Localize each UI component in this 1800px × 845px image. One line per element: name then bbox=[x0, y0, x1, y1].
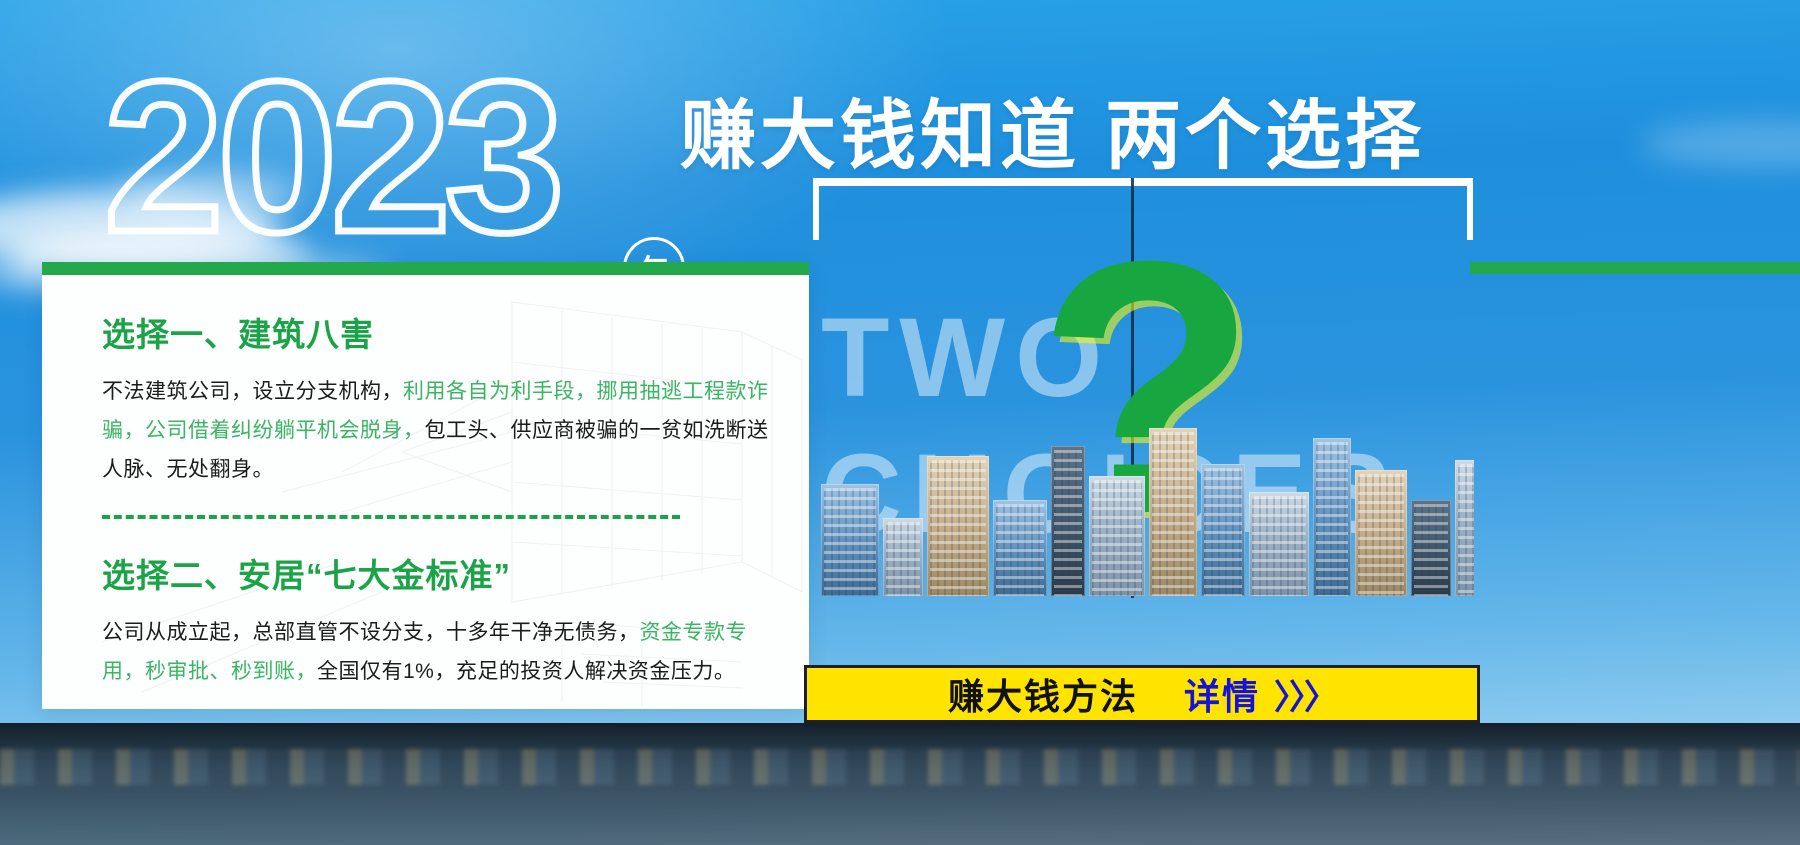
paragraph-segment: 不法建筑公司，设立分支机构， bbox=[102, 380, 403, 403]
footer-blur-band bbox=[0, 749, 1800, 785]
cityscape-photo bbox=[809, 396, 1474, 596]
accent-stripe bbox=[1470, 262, 1800, 274]
cta-button[interactable]: 赚大钱方法 详情 〉〉〉 bbox=[804, 665, 1480, 723]
section-title-1: 选择一、建筑八害 bbox=[102, 308, 769, 356]
section-title-2: 选择二、安居“七大金标准” bbox=[102, 549, 769, 597]
building-shape bbox=[1355, 470, 1407, 596]
card-body: 选择一、建筑八害 不法建筑公司，设立分支机构，利用各自为利手段，挪用抽逃工程款诈… bbox=[42, 262, 809, 691]
building-shape bbox=[927, 456, 989, 596]
content-card: 选择一、建筑八害 不法建筑公司，设立分支机构，利用各自为利手段，挪用抽逃工程款诈… bbox=[42, 262, 809, 709]
cloud-shape bbox=[1640, 120, 1800, 168]
photo-panel: TWO CHOICES ? bbox=[809, 190, 1474, 650]
building-shape bbox=[883, 518, 923, 596]
section-divider bbox=[102, 515, 680, 519]
building-shape bbox=[1149, 428, 1197, 596]
year-number: 2023 bbox=[104, 52, 724, 262]
cta-link-label: 详情 bbox=[1184, 668, 1260, 720]
section-paragraph-2: 公司从成立起，总部直管不设分支，十多年干净无债务，资金专款专用，秒审批、秒到账，… bbox=[102, 613, 769, 691]
footer-reflection-strip bbox=[0, 723, 1800, 845]
building-shape bbox=[1201, 464, 1245, 596]
cta-main-label: 赚大钱方法 bbox=[948, 668, 1138, 720]
building-shape bbox=[1089, 476, 1145, 596]
headline-underline bbox=[813, 178, 1473, 186]
building-shape bbox=[1411, 500, 1451, 596]
building-shape bbox=[821, 484, 879, 596]
section-paragraph-1: 不法建筑公司，设立分支机构，利用各自为利手段，挪用抽逃工程款诈骗，公司借着纠纷躺… bbox=[102, 372, 769, 489]
building-shape bbox=[1051, 446, 1085, 596]
building-shape bbox=[1313, 438, 1351, 596]
paragraph-segment: 公司从成立起，总部直管不设分支，十多年干净无债务， bbox=[102, 621, 640, 644]
cta-details-link[interactable]: 详情 〉〉〉 bbox=[1184, 668, 1336, 720]
chevron-right-icon: 〉〉〉 bbox=[1274, 670, 1336, 719]
page-title: 赚大钱知道 两个选择 bbox=[680, 74, 1425, 184]
year-graphic: 2023 年 bbox=[104, 52, 724, 262]
paragraph-segment: 全国仅有1%，充足的投资人解决资金压力。 bbox=[317, 660, 735, 683]
building-shape bbox=[1455, 460, 1474, 596]
building-shape bbox=[1249, 492, 1309, 596]
promo-banner: 2023 年 赚大钱知道 两个选择 TWO CHOICES ? bbox=[0, 0, 1800, 845]
building-shape bbox=[993, 500, 1047, 596]
